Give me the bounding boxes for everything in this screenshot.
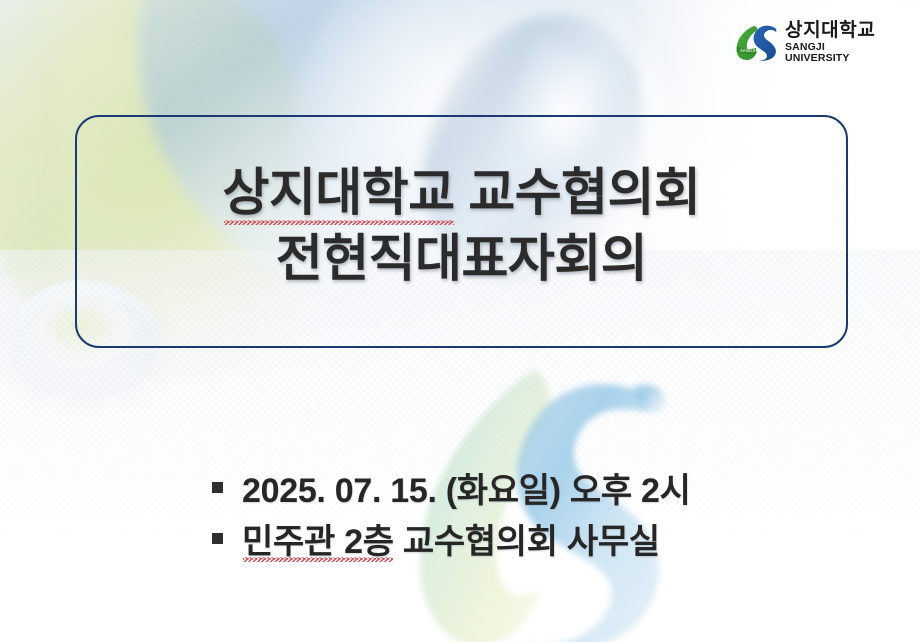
- svg-text:SANGJI: SANGJI: [740, 48, 756, 53]
- details-list: 2025. 07. 15. (화요일) 오후 2시 민주관 2층 교수협의회 사…: [212, 462, 852, 564]
- page-title: 상지대학교 교수협의회 전현직대표자회의: [75, 160, 848, 293]
- logo-text-block: 상지대학교 SANGJI UNIVERSITY: [785, 21, 883, 63]
- list-item: 2025. 07. 15. (화요일) 오후 2시: [212, 462, 852, 513]
- detail-datetime: 2025. 07. 15. (화요일) 오후 2시: [242, 463, 691, 512]
- detail-location: 민주관 2층 교수협의회 사무실: [242, 514, 660, 563]
- title-slide: SANGJI 상지대학교 SANGJI UNIVERSITY 상지대학교 교수협…: [0, 0, 920, 642]
- title-line-1-rest: 교수협의회: [455, 164, 701, 221]
- logo-korean-name: 상지대학교: [785, 21, 883, 40]
- detail-location-rest: 교수협의회 사무실: [394, 523, 660, 561]
- detail-spellchecked-phrase: 민주관 2층: [242, 514, 394, 563]
- sangji-university-logo: SANGJI 상지대학교 SANGJI UNIVERSITY: [735, 21, 883, 63]
- sangji-university-logo-icon: SANGJI: [735, 23, 779, 61]
- square-bullet-icon: [212, 533, 223, 544]
- title-line-1: 상지대학교 교수협의회: [75, 160, 848, 226]
- logo-english-name: SANGJI UNIVERSITY: [785, 42, 883, 63]
- square-bullet-icon: [212, 482, 223, 493]
- title-line-2: 전현직대표자회의: [75, 226, 848, 292]
- title-spellchecked-word: 상지대학교: [223, 160, 455, 226]
- list-item: 민주관 2층 교수협의회 사무실: [212, 513, 852, 564]
